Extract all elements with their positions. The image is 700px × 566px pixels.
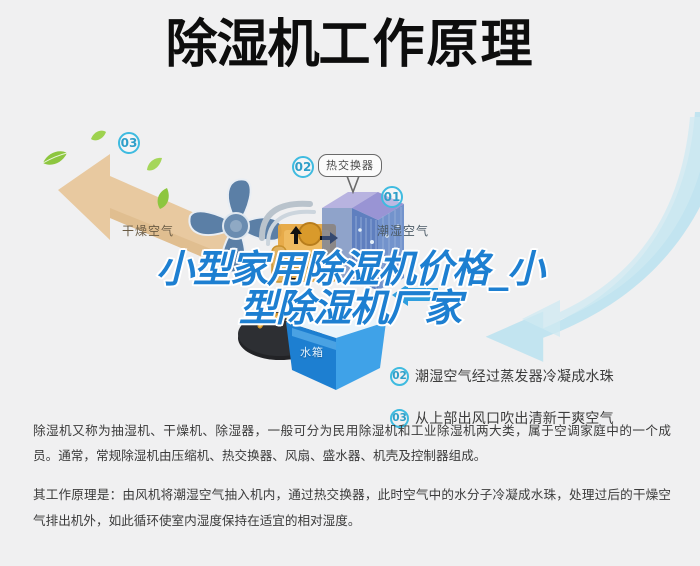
- leaf-icon: [156, 188, 172, 210]
- water-tank-label: 水箱: [300, 344, 324, 360]
- dehumidifier-diagram: 干燥空气: [0, 112, 700, 412]
- paragraph-1: 除湿机又称为抽湿机、干燥机、除湿器，一般可分为民用除湿机和工业除湿机两大类，属于…: [33, 418, 671, 468]
- article-body: 除湿机又称为抽湿机、干燥机、除湿器，一般可分为民用除湿机和工业除湿机两大类，属于…: [33, 418, 671, 533]
- water-tank-icon: [282, 308, 390, 398]
- humid-air-flow-icon: [410, 112, 700, 362]
- badge-03: 03: [118, 132, 140, 154]
- leaf-icon: [90, 130, 107, 143]
- dry-air-label: 干燥空气: [122, 222, 174, 239]
- page-root: 除湿机工作原理 干燥空气: [0, 0, 700, 566]
- air-inlet-arrow-icon: [392, 284, 438, 306]
- page-title-part-2: 工作原理: [319, 15, 535, 75]
- callout-pointer-icon: [346, 176, 360, 194]
- page-title-part-1: 除湿机: [165, 15, 318, 75]
- leaf-icon: [145, 157, 163, 173]
- badge-02: 02: [292, 156, 314, 178]
- step-item: 02 潮湿空气经过蒸发器冷凝成水珠: [390, 366, 690, 386]
- humid-air-label: 潮湿空气: [377, 222, 429, 239]
- heat-exchanger-callout: 热交换器: [318, 154, 382, 177]
- step-badge: 02: [390, 367, 409, 386]
- page-title-text: 除湿机工作原理: [165, 18, 534, 73]
- paragraph-2: 其工作原理是：由风机将潮湿空气抽入机内，通过热交换器，此时空气中的水分子冷凝成水…: [33, 482, 671, 532]
- step-label: 潮湿空气经过蒸发器冷凝成水珠: [415, 366, 614, 386]
- leaf-icon: [42, 150, 68, 168]
- page-title: 除湿机工作原理: [0, 18, 700, 73]
- badge-01: 01: [381, 186, 403, 208]
